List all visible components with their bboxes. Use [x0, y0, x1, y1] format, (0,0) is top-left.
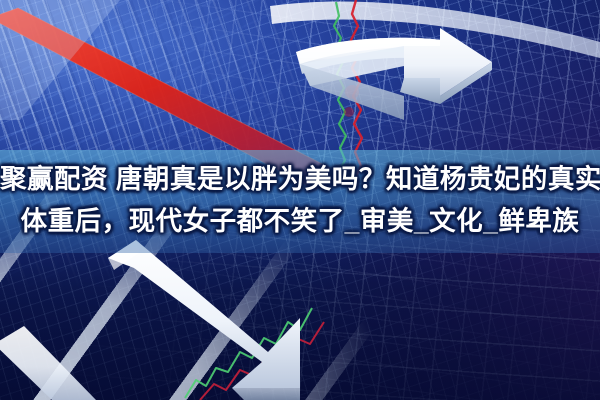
headline-line-1: 聚赢配资 唐朝真是以胖为美吗？知道杨贵妃的真实 [0, 158, 600, 200]
arrow-up-right-icon [296, 28, 492, 120]
headline-line-2: 体重后，现代女子都不笑了_审美_文化_鲜卑族 [0, 200, 600, 242]
headline-text: 聚赢配资 唐朝真是以胖为美吗？知道杨贵妃的真实 体重后，现代女子都不笑了_审美_… [0, 158, 600, 242]
thumbnail-image: 聚赢配资 唐朝真是以胖为美吗？知道杨贵妃的真实 体重后，现代女子都不笑了_审美_… [0, 0, 600, 400]
arrow-down-right-icon [108, 240, 300, 400]
arrow-tail-bottom-left-icon [0, 326, 96, 400]
